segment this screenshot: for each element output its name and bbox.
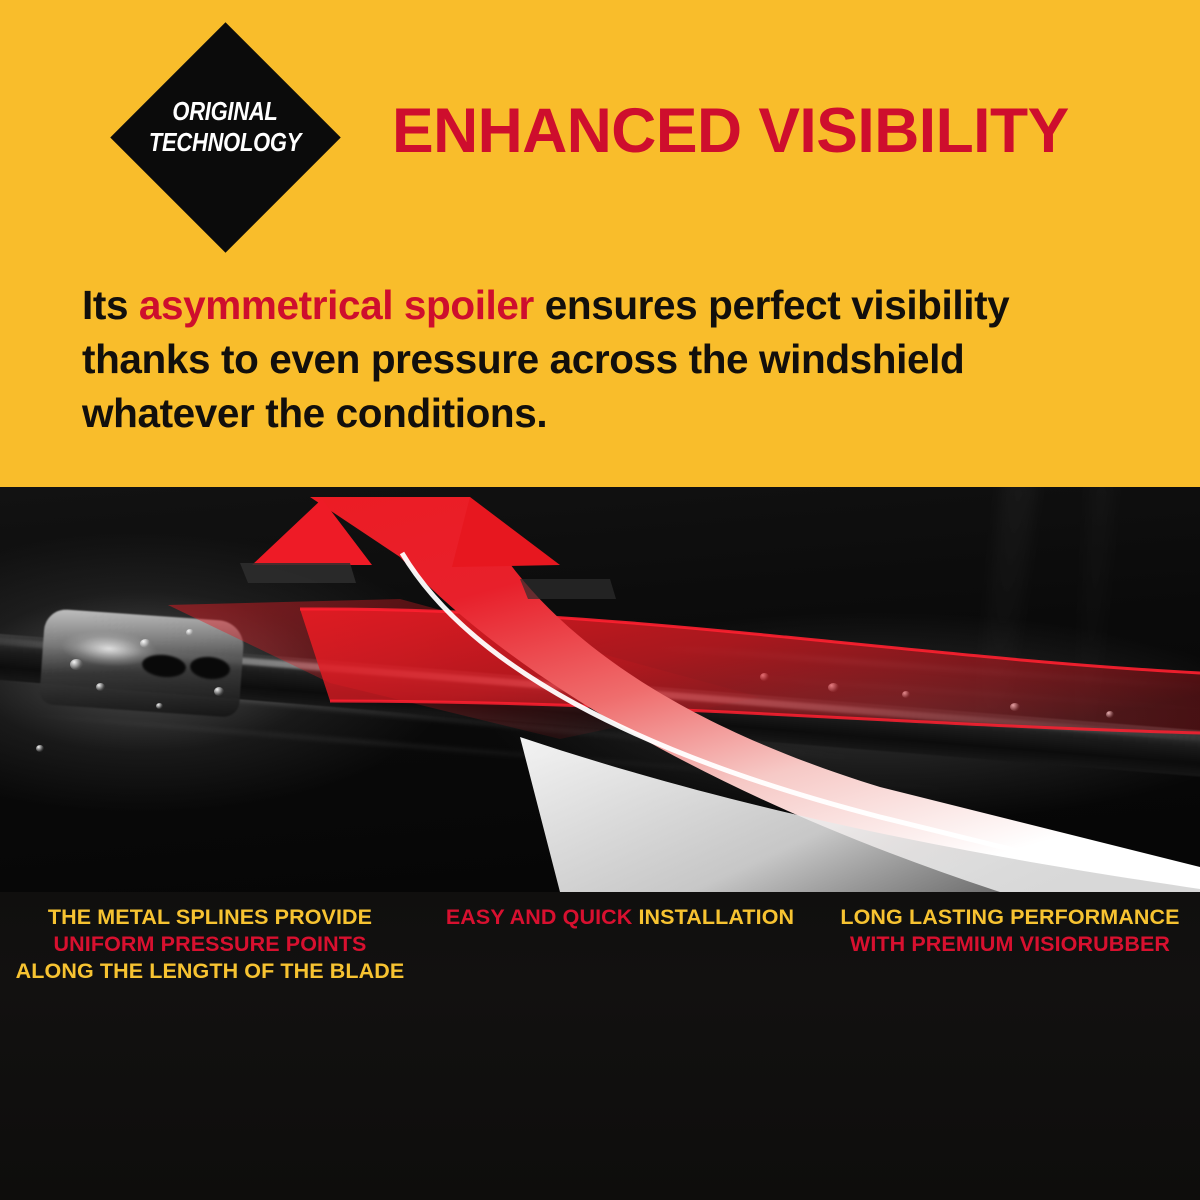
badge-line-1: ORIGINAL — [172, 98, 277, 126]
badge-line-2: TECHNOLOGY — [149, 129, 301, 157]
swoosh-arrow-head-right — [452, 497, 560, 567]
airflow-swoosh-arrow — [0, 487, 1200, 892]
badge-text: ORIGINAL TECHNOLOGY — [126, 97, 324, 159]
subcopy-highlight: asymmetrical spoiler — [139, 282, 534, 328]
yellow-header-panel: ORIGINAL TECHNOLOGY ENHANCED VISIBILITY … — [0, 0, 1200, 487]
swoosh-arrow-head-shadow — [240, 563, 356, 583]
caption-line: LONG LASTING PERFORMANCE — [820, 904, 1200, 931]
caption-line: EASY AND QUICK INSTALLATION — [420, 904, 820, 931]
caption-long-lasting: LONG LASTING PERFORMANCE WITH PREMIUM VI… — [820, 904, 1200, 985]
subcopy-paragraph: Its asymmetrical spoiler ensures perfect… — [82, 278, 1142, 440]
swoosh-arrow-head-shadow — [520, 579, 616, 599]
caption-easy-installation: EASY AND QUICK INSTALLATION — [420, 904, 820, 985]
caption-line: ALONG THE LENGTH OF THE BLADE — [0, 958, 420, 985]
subcopy-part-1: Its — [82, 282, 139, 328]
page-title: ENHANCED VISIBILITY — [392, 97, 1069, 165]
caption-segment-red: EASY AND QUICK — [446, 905, 639, 929]
caption-line: THE METAL SPLINES PROVIDE — [0, 904, 420, 931]
hero-image — [0, 487, 1200, 892]
caption-line: WITH PREMIUM VISIORUBBER — [820, 931, 1200, 958]
caption-metal-splines: THE METAL SPLINES PROVIDE UNIFORM PRESSU… — [0, 904, 420, 985]
feature-captions-row: THE METAL SPLINES PROVIDE UNIFORM PRESSU… — [0, 904, 1200, 985]
caption-line: UNIFORM PRESSURE POINTS — [0, 931, 420, 958]
product-infographic-poster: ORIGINAL TECHNOLOGY ENHANCED VISIBILITY … — [0, 0, 1200, 1200]
features-section: THE METAL SPLINES PROVIDE UNIFORM PRESSU… — [0, 892, 1200, 1200]
caption-segment-yellow: INSTALLATION — [638, 905, 794, 929]
original-technology-badge: ORIGINAL TECHNOLOGY — [110, 22, 340, 252]
